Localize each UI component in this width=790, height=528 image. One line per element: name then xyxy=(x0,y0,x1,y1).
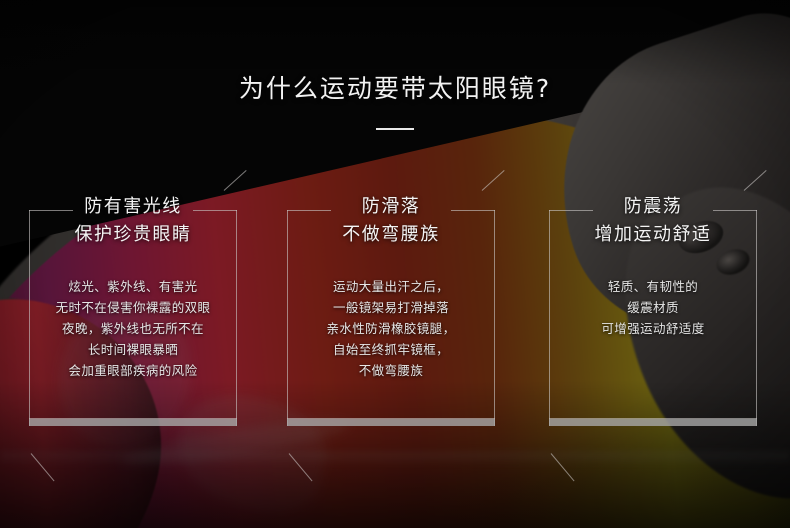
frame-bottom-bar xyxy=(287,419,495,426)
feature-body-2: 运动大量出汗之后， 一般镜架易打滑掉落 亲水性防滑橡胶镜腿， 自始至终抓牢镜框，… xyxy=(287,276,495,381)
feature-heading-3: 防震荡 增加运动舒适 xyxy=(549,194,757,250)
frame-bottom-bar xyxy=(29,419,237,426)
feature-body-line: 炫光、紫外线、有害光 xyxy=(29,276,237,297)
frame-accent-diagonal-top-right xyxy=(224,170,247,191)
feature-body-line: 会加重眼部疾病的风险 xyxy=(29,360,237,381)
feature-body-line: 不做弯腰族 xyxy=(287,360,495,381)
product-feature-banner: 为什么运动要带太阳眼镜? 防有害光线 保护珍贵眼睛 炫光、紫外线、有害光 无时不… xyxy=(0,0,790,528)
frame-accent-diagonal-top-right xyxy=(482,170,505,191)
feature-heading-line1: 防有害光线 xyxy=(29,194,237,220)
feature-body-3: 轻质、有韧性的 缓震材质 可增强运动舒适度 xyxy=(549,276,757,339)
feature-body-line: 运动大量出汗之后， xyxy=(287,276,495,297)
feature-body-line: 轻质、有韧性的 xyxy=(549,276,757,297)
feature-heading-line1: 防震荡 xyxy=(549,194,757,220)
feature-heading-line2: 不做弯腰族 xyxy=(287,220,495,250)
feature-heading-1: 防有害光线 保护珍贵眼睛 xyxy=(29,194,237,250)
feature-body-line: 夜晚，紫外线也无所不在 xyxy=(29,318,237,339)
feature-panel-group: 防有害光线 保护珍贵眼睛 炫光、紫外线、有害光 无时不在侵害你裸露的双眼 夜晚，… xyxy=(0,0,790,528)
feature-body-line: 自始至终抓牢镜框， xyxy=(287,339,495,360)
feature-panel-1: 防有害光线 保护珍贵眼睛 炫光、紫外线、有害光 无时不在侵害你裸露的双眼 夜晚，… xyxy=(29,210,237,426)
frame-bottom-bar xyxy=(549,419,757,426)
feature-heading-line2: 增加运动舒适 xyxy=(549,220,757,250)
feature-body-line: 无时不在侵害你裸露的双眼 xyxy=(29,297,237,318)
feature-heading-line2: 保护珍贵眼睛 xyxy=(29,220,237,250)
feature-body-line: 缓震材质 xyxy=(549,297,757,318)
frame-accent-diagonal-bottom-left xyxy=(289,453,313,481)
feature-heading-2: 防滑落 不做弯腰族 xyxy=(287,194,495,250)
feature-body-line: 可增强运动舒适度 xyxy=(549,318,757,339)
feature-heading-line1: 防滑落 xyxy=(287,194,495,220)
feature-body-line: 一般镜架易打滑掉落 xyxy=(287,297,495,318)
feature-panel-2: 防滑落 不做弯腰族 运动大量出汗之后， 一般镜架易打滑掉落 亲水性防滑橡胶镜腿，… xyxy=(287,210,495,426)
feature-body-1: 炫光、紫外线、有害光 无时不在侵害你裸露的双眼 夜晚，紫外线也无所不在 长时间裸… xyxy=(29,276,237,381)
frame-accent-diagonal-bottom-left xyxy=(551,453,575,481)
feature-body-line: 亲水性防滑橡胶镜腿， xyxy=(287,318,495,339)
feature-body-line: 长时间裸眼暴晒 xyxy=(29,339,237,360)
feature-panel-3: 防震荡 增加运动舒适 轻质、有韧性的 缓震材质 可增强运动舒适度 xyxy=(549,210,757,426)
frame-accent-diagonal-bottom-left xyxy=(31,453,55,481)
frame-accent-diagonal-top-right xyxy=(744,170,767,191)
